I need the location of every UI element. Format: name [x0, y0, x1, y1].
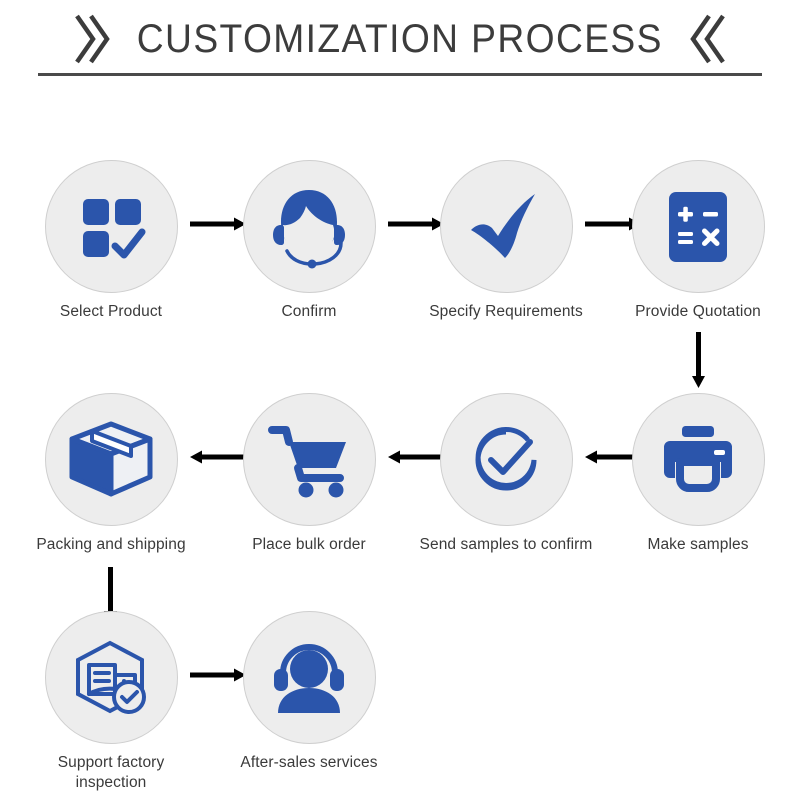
- step-icon-circle: [45, 393, 178, 526]
- step-send-samples-to-confirm[interactable]: Send samples to confirm: [416, 393, 596, 555]
- headset-operator-icon: [267, 185, 351, 269]
- step-support-factory-inspection[interactable]: Support factory inspection: [21, 611, 201, 793]
- step-make-samples[interactable]: Make samples: [608, 393, 788, 555]
- grid-check-icon: [74, 190, 148, 264]
- title-row: CUSTOMIZATION PROCESS: [0, 8, 800, 70]
- factory-inspection-icon: [71, 639, 151, 717]
- step-label: Provide Quotation: [608, 302, 788, 322]
- step-label: Make samples: [608, 535, 788, 555]
- step-packing-and-shipping[interactable]: Packing and shipping: [21, 393, 201, 555]
- arrow-down-icon: [691, 332, 706, 388]
- step-after-sales-services[interactable]: After-sales services: [219, 611, 399, 773]
- page-title: CUSTOMIZATION PROCESS: [137, 17, 663, 62]
- step-label: Packing and shipping: [21, 535, 201, 555]
- circle-check-icon: [466, 420, 546, 500]
- step-label: Specify Requirements: [416, 302, 596, 322]
- process-flow-diagram: Select Product Confirm: [0, 95, 800, 800]
- double-chevron-left-icon: [689, 12, 729, 66]
- step-icon-circle: [440, 160, 573, 293]
- title-divider: [38, 73, 762, 76]
- step-select-product[interactable]: Select Product: [21, 160, 201, 322]
- step-icon-circle: [632, 160, 765, 293]
- page-header: CUSTOMIZATION PROCESS: [0, 0, 800, 95]
- step-icon-circle: [243, 611, 376, 744]
- calculator-icon: [663, 188, 733, 266]
- shopping-cart-icon: [268, 422, 350, 498]
- step-label: After-sales services: [219, 753, 399, 773]
- step-confirm[interactable]: Confirm: [219, 160, 399, 322]
- double-chevron-right-icon: [71, 12, 111, 66]
- checkmark-icon: [465, 186, 547, 268]
- step-label: Select Product: [21, 302, 201, 322]
- support-agent-icon: [268, 641, 350, 715]
- step-place-bulk-order[interactable]: Place bulk order: [219, 393, 399, 555]
- step-icon-circle: [45, 611, 178, 744]
- step-provide-quotation[interactable]: Provide Quotation: [608, 160, 788, 322]
- step-icon-circle: [632, 393, 765, 526]
- step-icon-circle: [440, 393, 573, 526]
- printer-icon: [658, 424, 738, 496]
- step-label: Confirm: [219, 302, 399, 322]
- step-icon-circle: [243, 393, 376, 526]
- package-box-icon: [68, 420, 154, 500]
- step-icon-circle: [243, 160, 376, 293]
- step-label: Place bulk order: [219, 535, 399, 555]
- step-specify-requirements[interactable]: Specify Requirements: [416, 160, 596, 322]
- step-label: Support factory inspection: [21, 753, 201, 793]
- step-icon-circle: [45, 160, 178, 293]
- step-label: Send samples to confirm: [416, 535, 596, 555]
